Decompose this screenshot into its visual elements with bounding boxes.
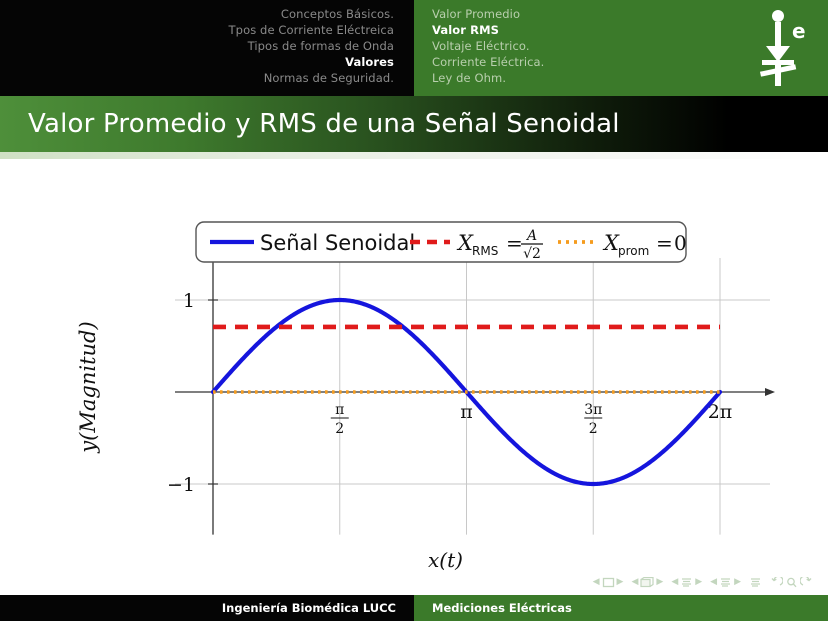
presentation-icon[interactable] bbox=[749, 577, 762, 588]
diode-e-logo-icon: e bbox=[756, 8, 810, 88]
search-icon[interactable] bbox=[785, 577, 798, 588]
legend-rms-frac-numerator: A bbox=[525, 228, 537, 244]
slide: Conceptos Básicos.Tpos de Corriente Eléc… bbox=[0, 0, 828, 621]
legend-label-rms-sub: RMS bbox=[472, 244, 498, 258]
legend-prom-value: 0 bbox=[674, 231, 687, 255]
nav-next-frame-icon[interactable]: ▶ bbox=[656, 578, 663, 587]
section-icon[interactable] bbox=[719, 577, 732, 588]
back-icon[interactable] bbox=[770, 577, 783, 588]
xtick-label-num-2: 3π bbox=[584, 402, 602, 418]
subsection-icon[interactable] bbox=[680, 577, 693, 588]
legend-label-prom-sub: prom bbox=[618, 244, 649, 258]
legend-rms-frac-denominator: √2 bbox=[523, 246, 541, 262]
slide-icon[interactable] bbox=[602, 577, 615, 588]
ytick-label-0: 1 bbox=[183, 290, 195, 312]
x-axis-label: x(t) bbox=[428, 548, 463, 572]
x-axis-arrow bbox=[765, 388, 775, 396]
xtick-label-1: π bbox=[460, 401, 473, 423]
header-nav-right: e Valor PromedioValor RMSVoltaje Eléctri… bbox=[414, 0, 828, 96]
legend-prom-equals: = bbox=[656, 231, 673, 255]
svg-text:e: e bbox=[792, 19, 806, 43]
xtick-label-num-0: π bbox=[335, 402, 344, 418]
nav-next-section-icon[interactable]: ▶ bbox=[734, 578, 741, 587]
ytick-label-1: −1 bbox=[167, 474, 195, 496]
nav-subsection-group[interactable]: ◀ ▶ bbox=[671, 577, 702, 588]
nav-prev-subsection-icon[interactable]: ◀ bbox=[671, 578, 678, 587]
nav-left-item-2[interactable]: Tipos de formas de Onda bbox=[0, 38, 394, 54]
forward-icon[interactable] bbox=[800, 577, 813, 588]
header-navigation-bar: Conceptos Básicos.Tpos de Corriente Eléc… bbox=[0, 0, 828, 96]
y-axis-label: y(Magnitud) bbox=[76, 321, 100, 453]
nav-next-arrow-icon[interactable]: ▶ bbox=[617, 578, 624, 587]
nav-section-group[interactable]: ◀ ▶ bbox=[710, 577, 741, 588]
xtick-label-den-0: 2 bbox=[335, 421, 344, 437]
nav-prev-arrow-icon[interactable]: ◀ bbox=[593, 578, 600, 587]
page-title: Valor Promedio y RMS de una Señal Senoid… bbox=[0, 109, 620, 139]
footer-bar: Ingeniería Biomédica LUCC Mediciones Elé… bbox=[0, 595, 828, 621]
legend-rms-equals: = bbox=[506, 231, 523, 255]
chart-figure: 1−1π2π3π22πy(Magnitud)Señal SenoidalXRMS… bbox=[0, 190, 828, 570]
nav-presentation-group[interactable] bbox=[749, 577, 762, 588]
nav-prev-frame-icon[interactable]: ◀ bbox=[631, 578, 638, 587]
nav-slide-group[interactable]: ◀ ▶ bbox=[593, 577, 624, 588]
nav-left-item-1[interactable]: Tpos de Corriente Eléctreica bbox=[0, 22, 394, 38]
frame-icon[interactable] bbox=[640, 577, 654, 588]
header-nav-left: Conceptos Básicos.Tpos de Corriente Eléc… bbox=[0, 0, 414, 96]
footer-course: Mediciones Eléctricas bbox=[414, 595, 828, 621]
sine-wave-plot: 1−1π2π3π22πy(Magnitud)Señal SenoidalXRMS… bbox=[0, 190, 828, 570]
xtick-label-den-2: 2 bbox=[589, 421, 598, 437]
nav-frame-group[interactable]: ◀ ▶ bbox=[631, 577, 663, 588]
nav-left-item-4[interactable]: Normas de Seguridad. bbox=[0, 70, 394, 86]
legend-label-signal: Señal Senoidal bbox=[260, 231, 415, 255]
nav-left-item-3[interactable]: Valores bbox=[0, 54, 394, 70]
nav-tools-group[interactable] bbox=[770, 577, 813, 588]
nav-prev-section-icon[interactable]: ◀ bbox=[710, 578, 717, 587]
slide-title-bar: Valor Promedio y RMS de una Señal Senoid… bbox=[0, 96, 828, 152]
nav-left-item-0[interactable]: Conceptos Básicos. bbox=[0, 6, 394, 22]
nav-next-subsection-icon[interactable]: ▶ bbox=[695, 578, 702, 587]
beamer-navigation-symbols[interactable]: ◀ ▶ ◀ ▶ ◀ ▶ ◀ ▶ bbox=[593, 572, 818, 592]
title-underline bbox=[0, 152, 828, 159]
footer-institution: Ingeniería Biomédica LUCC bbox=[0, 595, 414, 621]
